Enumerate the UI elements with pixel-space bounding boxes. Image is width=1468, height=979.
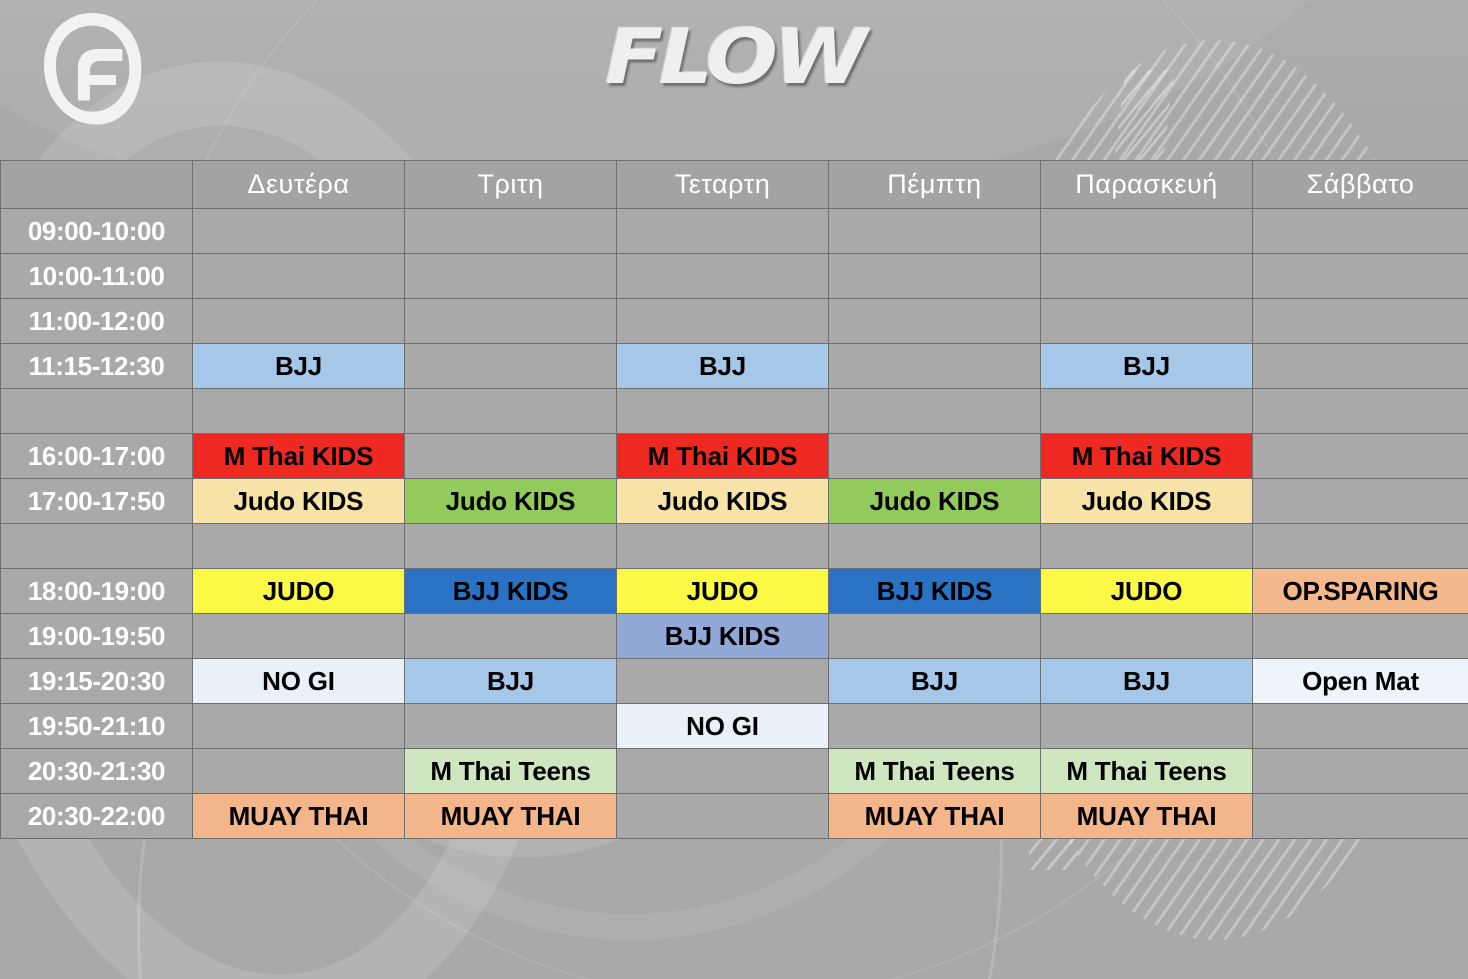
schedule-body: 09:00-10:0010:00-11:0011:00-12:0011:15-1…: [1, 209, 1468, 839]
schedule-cell-empty: [617, 389, 829, 434]
schedule-cell-empty: [193, 389, 405, 434]
schedule-cell-class[interactable]: BJJ: [405, 659, 617, 704]
schedule-table-wrapper: ΔευτέραΤριτηΤεταρτηΠέμπτηΠαρασκευήΣάββατ…: [0, 160, 1468, 839]
schedule-cell-empty: [405, 704, 617, 749]
weekly-schedule-table: ΔευτέραΤριτηΤεταρτηΠέμπτηΠαρασκευήΣάββατ…: [0, 160, 1468, 839]
schedule-cell-class[interactable]: BJJ: [1041, 659, 1253, 704]
schedule-cell-empty: [1253, 749, 1468, 794]
schedule-cell-empty: [829, 209, 1041, 254]
day-header-4: Πέμπτη: [829, 161, 1041, 209]
day-header-5: Παρασκευή: [1041, 161, 1253, 209]
schedule-row: 11:15-12:30BJJBJJBJJ: [1, 344, 1468, 389]
schedule-row: 09:00-10:00: [1, 209, 1468, 254]
schedule-cell-empty: [193, 749, 405, 794]
time-slot-label: 19:15-20:30: [1, 659, 193, 704]
schedule-header-row: ΔευτέραΤριτηΤεταρτηΠέμπτηΠαρασκευήΣάββατ…: [1, 161, 1468, 209]
schedule-cell-empty: [829, 524, 1041, 569]
schedule-cell-class[interactable]: Judo KIDS: [193, 479, 405, 524]
time-slot-label: 18:00-19:00: [1, 569, 193, 614]
schedule-cell-empty: [617, 254, 829, 299]
time-slot-label: 20:30-21:30: [1, 749, 193, 794]
schedule-cell-class[interactable]: M Thai KIDS: [193, 434, 405, 479]
schedule-cell-empty: [405, 344, 617, 389]
schedule-cell-class[interactable]: Judo KIDS: [617, 479, 829, 524]
schedule-cell-empty: [617, 299, 829, 344]
day-header-6: Σάββατο: [1253, 161, 1468, 209]
schedule-cell-class[interactable]: MUAY THAI: [405, 794, 617, 839]
schedule-row: 19:15-20:30NO GIBJJBJJBJJOpen Mat: [1, 659, 1468, 704]
schedule-cell-class[interactable]: BJJ KIDS: [617, 614, 829, 659]
time-slot-label: [1, 524, 193, 569]
schedule-cell-empty: [829, 434, 1041, 479]
schedule-cell-class[interactable]: BJJ KIDS: [405, 569, 617, 614]
schedule-cell-empty: [405, 389, 617, 434]
schedule-cell-empty: [1253, 524, 1468, 569]
flow-wordmark: FLOW: [0, 12, 1468, 101]
schedule-cell-empty: [405, 614, 617, 659]
schedule-cell-class[interactable]: M Thai Teens: [1041, 749, 1253, 794]
schedule-row: 10:00-11:00: [1, 254, 1468, 299]
schedule-cell-empty: [193, 524, 405, 569]
time-slot-label: 09:00-10:00: [1, 209, 193, 254]
schedule-cell-empty: [617, 524, 829, 569]
time-slot-label: [1, 389, 193, 434]
schedule-cell-class[interactable]: MUAY THAI: [1041, 794, 1253, 839]
schedule-cell-empty: [829, 299, 1041, 344]
schedule-cell-empty: [829, 389, 1041, 434]
corner-header-cell: [1, 161, 193, 209]
schedule-cell-empty: [405, 209, 617, 254]
schedule-cell-empty: [1253, 794, 1468, 839]
time-slot-label: 17:00-17:50: [1, 479, 193, 524]
day-header-1: Δευτέρα: [193, 161, 405, 209]
schedule-cell-class[interactable]: BJJ: [1041, 344, 1253, 389]
schedule-row: 20:30-21:30M Thai TeensM Thai TeensM Tha…: [1, 749, 1468, 794]
schedule-cell-empty: [1041, 524, 1253, 569]
schedule-cell-empty: [617, 659, 829, 704]
schedule-cell-class[interactable]: Judo KIDS: [829, 479, 1041, 524]
time-slot-label: 19:50-21:10: [1, 704, 193, 749]
schedule-cell-class[interactable]: NO GI: [193, 659, 405, 704]
schedule-cell-empty: [829, 254, 1041, 299]
schedule-cell-empty: [405, 299, 617, 344]
schedule-spacer-row: [1, 524, 1468, 569]
schedule-spacer-row: [1, 389, 1468, 434]
schedule-cell-empty: [829, 704, 1041, 749]
schedule-cell-empty: [1041, 299, 1253, 344]
schedule-cell-class[interactable]: MUAY THAI: [193, 794, 405, 839]
schedule-cell-empty: [193, 704, 405, 749]
schedule-cell-class[interactable]: Judo KIDS: [1041, 479, 1253, 524]
schedule-cell-empty: [1253, 344, 1468, 389]
schedule-cell-class[interactable]: M Thai KIDS: [617, 434, 829, 479]
schedule-row: 19:50-21:10NO GI: [1, 704, 1468, 749]
schedule-cell-class[interactable]: Judo KIDS: [405, 479, 617, 524]
time-slot-label: 16:00-17:00: [1, 434, 193, 479]
schedule-cell-class[interactable]: OP.SPARING: [1253, 569, 1468, 614]
schedule-cell-class[interactable]: M Thai Teens: [829, 749, 1041, 794]
schedule-cell-class[interactable]: M Thai Teens: [405, 749, 617, 794]
time-slot-label: 19:00-19:50: [1, 614, 193, 659]
schedule-cell-class[interactable]: BJJ: [617, 344, 829, 389]
schedule-cell-empty: [1041, 209, 1253, 254]
schedule-cell-empty: [1041, 254, 1253, 299]
time-slot-label: 20:30-22:00: [1, 794, 193, 839]
page-header: FLOW: [0, 0, 1468, 160]
day-header-3: Τεταρτη: [617, 161, 829, 209]
schedule-row: 20:30-22:00MUAY THAIMUAY THAIMUAY THAIMU…: [1, 794, 1468, 839]
schedule-cell-class[interactable]: BJJ KIDS: [829, 569, 1041, 614]
schedule-cell-empty: [193, 299, 405, 344]
schedule-cell-class[interactable]: BJJ: [829, 659, 1041, 704]
schedule-row: 17:00-17:50Judo KIDSJudo KIDSJudo KIDSJu…: [1, 479, 1468, 524]
schedule-cell-empty: [1253, 209, 1468, 254]
schedule-row: 11:00-12:00: [1, 299, 1468, 344]
schedule-cell-empty: [1253, 479, 1468, 524]
schedule-cell-empty: [1253, 254, 1468, 299]
schedule-cell-empty: [617, 794, 829, 839]
schedule-cell-class[interactable]: JUDO: [1041, 569, 1253, 614]
schedule-cell-empty: [1253, 614, 1468, 659]
schedule-cell-class[interactable]: BJJ: [193, 344, 405, 389]
schedule-cell-class[interactable]: JUDO: [617, 569, 829, 614]
schedule-cell-empty: [829, 344, 1041, 389]
schedule-cell-empty: [1041, 614, 1253, 659]
time-slot-label: 11:00-12:00: [1, 299, 193, 344]
schedule-cell-empty: [1041, 389, 1253, 434]
schedule-cell-empty: [193, 254, 405, 299]
schedule-cell-empty: [617, 209, 829, 254]
schedule-row: 16:00-17:00M Thai KIDSM Thai KIDSM Thai …: [1, 434, 1468, 479]
schedule-cell-empty: [1253, 434, 1468, 479]
schedule-cell-empty: [1041, 704, 1253, 749]
schedule-cell-class[interactable]: NO GI: [617, 704, 829, 749]
schedule-cell-class[interactable]: M Thai KIDS: [1041, 434, 1253, 479]
schedule-cell-empty: [1253, 704, 1468, 749]
schedule-cell-empty: [193, 614, 405, 659]
schedule-cell-empty: [193, 209, 405, 254]
schedule-cell-empty: [405, 524, 617, 569]
schedule-cell-empty: [829, 614, 1041, 659]
schedule-cell-class[interactable]: JUDO: [193, 569, 405, 614]
schedule-row: 18:00-19:00JUDOBJJ KIDSJUDOBJJ KIDSJUDOO…: [1, 569, 1468, 614]
time-slot-label: 10:00-11:00: [1, 254, 193, 299]
day-header-2: Τριτη: [405, 161, 617, 209]
schedule-cell-class[interactable]: Open Mat: [1253, 659, 1468, 704]
schedule-cell-empty: [617, 749, 829, 794]
schedule-cell-empty: [405, 434, 617, 479]
schedule-row: 19:00-19:50BJJ KIDS: [1, 614, 1468, 659]
schedule-cell-empty: [405, 254, 617, 299]
schedule-cell-empty: [1253, 389, 1468, 434]
time-slot-label: 11:15-12:30: [1, 344, 193, 389]
schedule-cell-empty: [1253, 299, 1468, 344]
schedule-page: FLOW ΔευτέραΤριτηΤεταρτηΠέμπτηΠαρασκευήΣ…: [0, 0, 1468, 979]
schedule-cell-class[interactable]: MUAY THAI: [829, 794, 1041, 839]
